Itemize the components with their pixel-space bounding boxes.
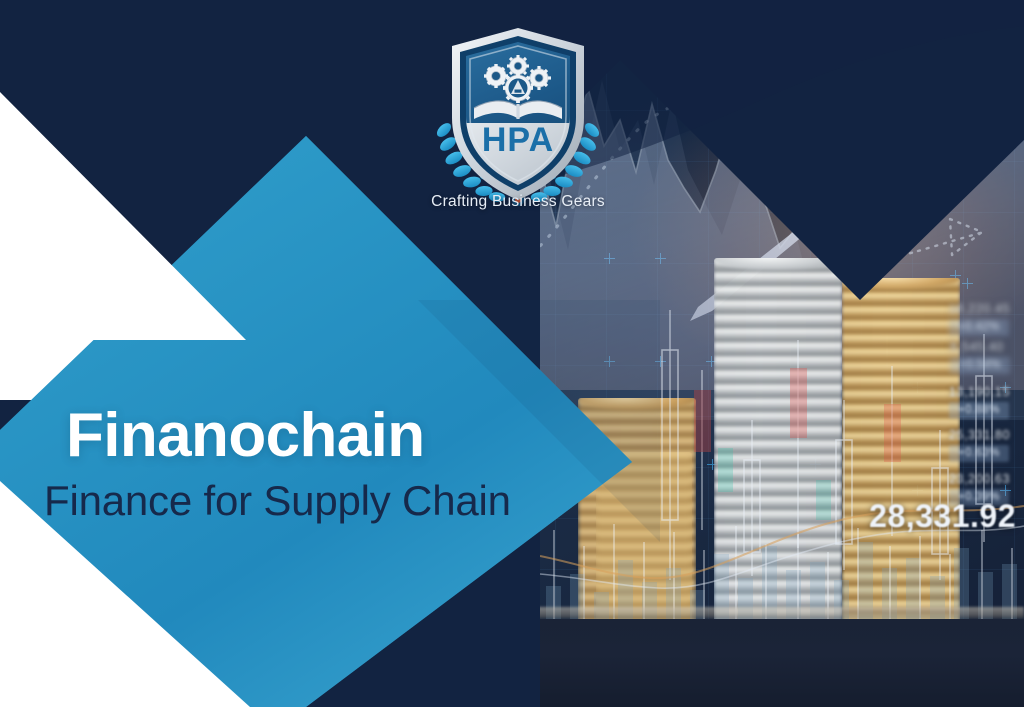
logo-monogram-text: HPA (482, 121, 554, 159)
page-subtitle: Finance for Supply Chain (44, 479, 626, 523)
page-title: Finanochain (66, 405, 626, 467)
shield-gears-book-laurel-emblem-icon: HPA (418, 22, 618, 222)
brand-logo: HPA HPA (418, 22, 618, 222)
white-corner-top-left (0, 0, 340, 340)
brand-tagline: Crafting Business Gears (418, 193, 618, 211)
title-block: Finanochain Finance for Supply Chain (66, 405, 626, 523)
cover-slide: 18,220.45 +0.42% 8,545.40 +0.54% 13,190.… (0, 0, 1024, 707)
